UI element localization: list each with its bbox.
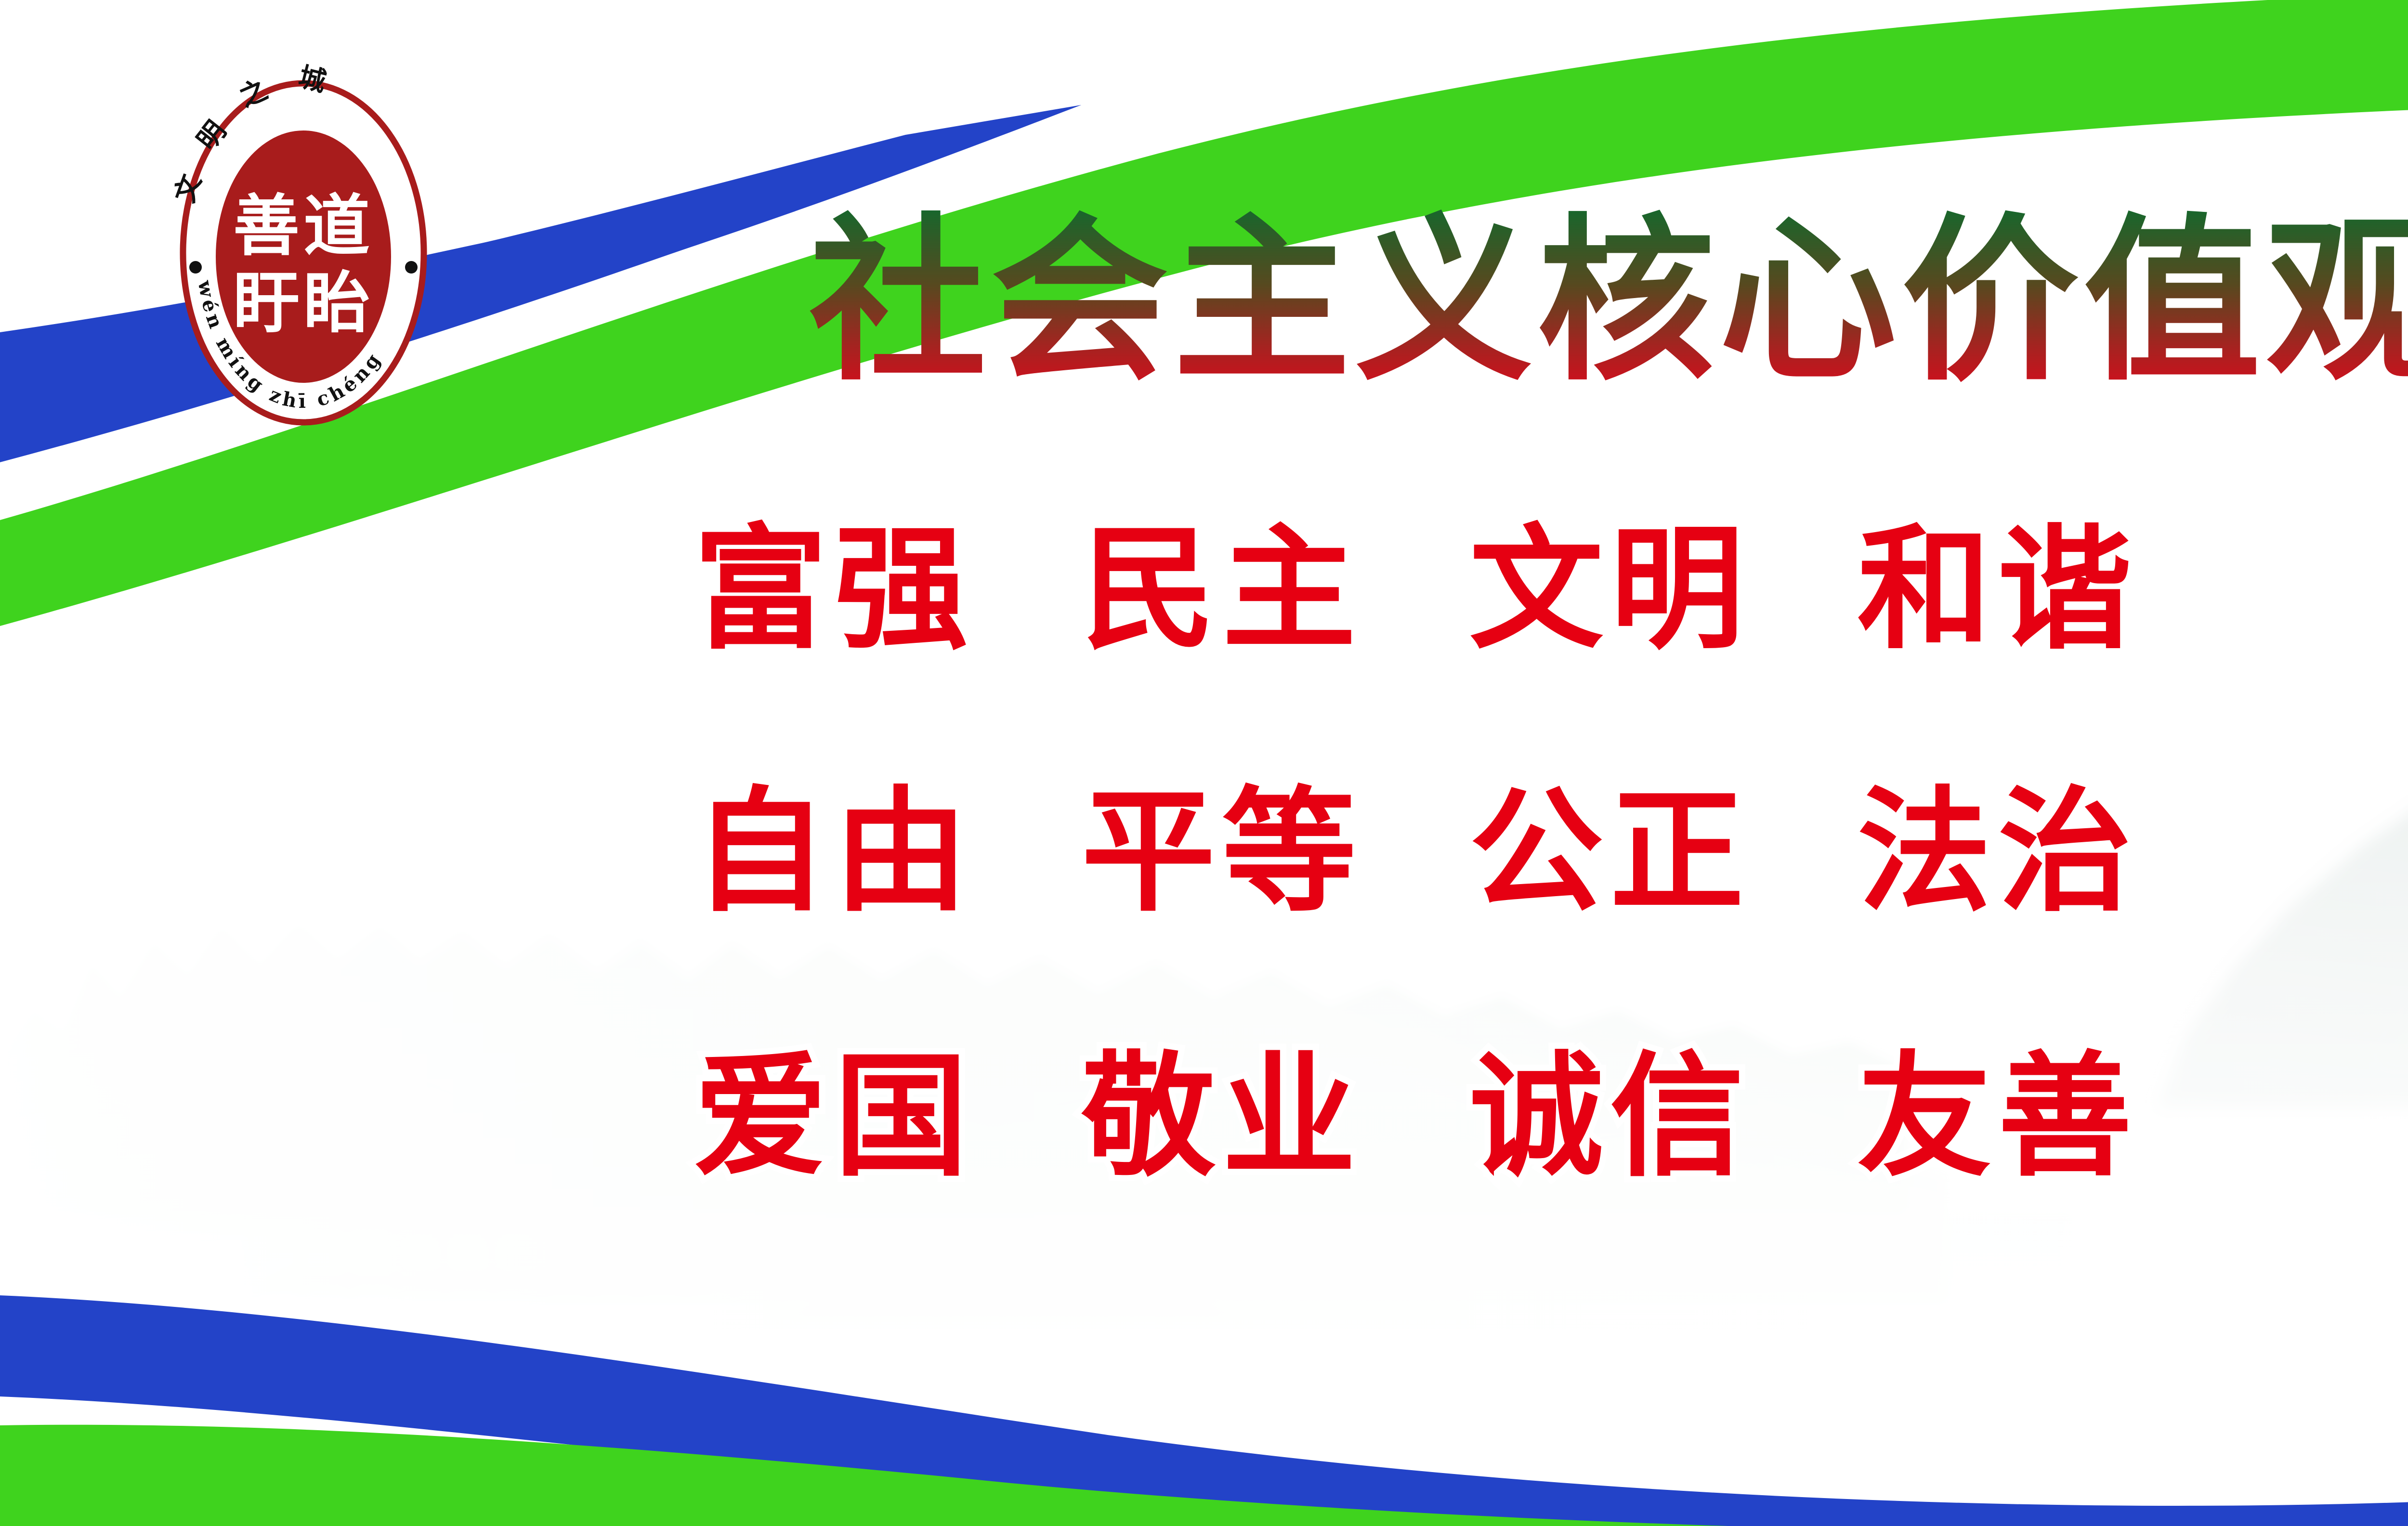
seal-dot-left (189, 261, 202, 274)
seal-center-line2: 盱眙 (233, 264, 374, 342)
values-line-social: 自由 平等 公正 法治 (694, 785, 2408, 919)
values-line-national: 富强 民主 文明 和谐 (694, 522, 2408, 656)
wenming-zhicheng-seal: 文明之城 wén míng zhī chéng 善道 盱眙 (159, 60, 448, 441)
propaganda-banner: 文明之城 wén míng zhī chéng 善道 盱眙 (0, 0, 2408, 1526)
page-title: 社会主义核心价值观 (809, 195, 2408, 397)
values-line-personal: 爱国 敬业 诚信 友善 (694, 1050, 2408, 1184)
seal-center-line1: 善道 (233, 187, 374, 265)
page-title-text: 社会主义核心价值观 (809, 198, 2408, 397)
seal-dot-right (405, 261, 418, 274)
